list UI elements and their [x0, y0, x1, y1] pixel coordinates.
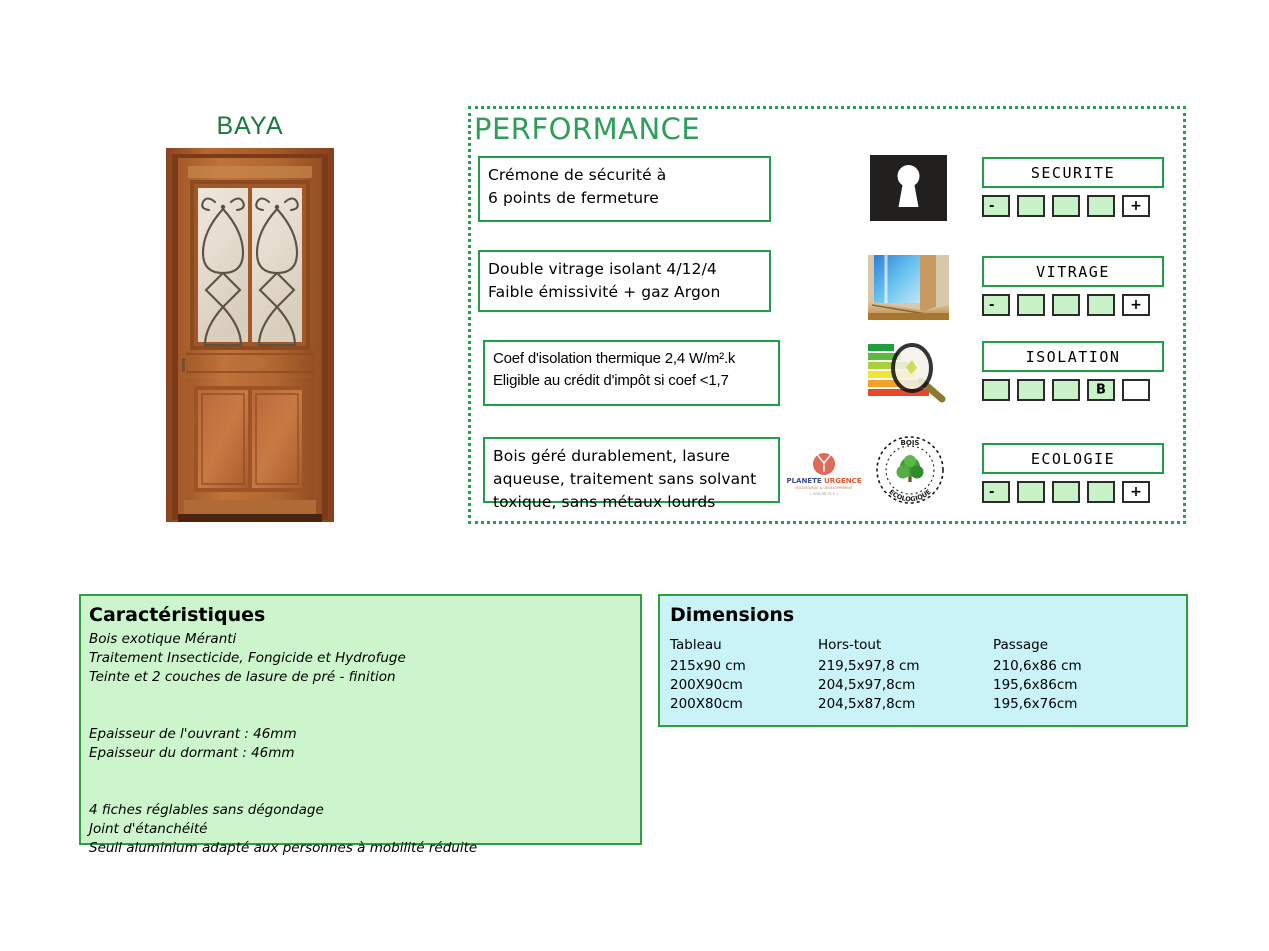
caracteristiques-heading: Caractéristiques	[89, 604, 640, 626]
rating-cell[interactable]	[1122, 379, 1150, 401]
spacer	[89, 687, 640, 725]
table-cell: 204,5x97,8cm	[818, 676, 993, 695]
product-door-image	[164, 144, 336, 528]
rating-cells-ecologie: - +	[982, 481, 1164, 503]
planete-urgence-glyph: PLANETE URGENCE VOLONTARIAT & DEVELOPPEM…	[784, 450, 864, 498]
caracteristiques-line: Seuil aluminium adapté aux personnes à m…	[89, 839, 640, 858]
rating-cell[interactable]: +	[1122, 195, 1150, 217]
rating-cell[interactable]: -	[982, 294, 1010, 316]
feature-text-ecologie: Bois géré durablement, lasure aqueuse, t…	[483, 437, 780, 503]
feature-line: Coef d'isolation thermique 2,4 W/m².k	[493, 348, 770, 370]
rating-cell[interactable]	[1087, 481, 1115, 503]
minus-icon: -	[989, 486, 994, 499]
rating-cell[interactable]	[1017, 481, 1045, 503]
svg-text:VOLONTARIAT & DEVELOPPEMENT: VOLONTARIAT & DEVELOPPEMENT	[795, 486, 854, 490]
table-cell: 215x90 cm	[670, 657, 818, 676]
rating-cells-vitrage: - +	[982, 294, 1164, 316]
rating-cell[interactable]: +	[1122, 481, 1150, 503]
rating-cell[interactable]	[1087, 195, 1115, 217]
rating-cells-securite: - +	[982, 195, 1164, 217]
feature-line: aqueuse, traitement sans solvant	[493, 468, 770, 491]
feature-line: Eligible au crédit d'impôt si coef <1,7	[493, 370, 770, 392]
plus-icon: +	[1130, 298, 1142, 312]
rating-group-vitrage: VITRAGE - +	[982, 256, 1164, 316]
rating-group-isolation: ISOLATION B	[982, 341, 1164, 401]
rating-cell[interactable]	[1052, 195, 1080, 217]
window-icon	[868, 255, 949, 320]
spacer	[89, 763, 640, 801]
rating-cell[interactable]	[1052, 481, 1080, 503]
caracteristiques-line: Traitement Insecticide, Fongicide et Hyd…	[89, 649, 640, 668]
table-cell: 200X80cm	[670, 695, 818, 714]
svg-text:PLANETE URGENCE: PLANETE URGENCE	[786, 477, 861, 485]
page-title: BAYA	[160, 112, 340, 141]
rating-group-ecologie: ECOLOGIE - +	[982, 443, 1164, 503]
feature-line: toxique, sans métaux lourds	[493, 491, 770, 514]
table-header-row: Tableau Hors-tout Passage	[670, 636, 1082, 657]
feature-line: 6 points de fermeture	[488, 187, 761, 210]
feature-line: Crémone de sécurité à	[488, 164, 761, 187]
table-cell: 204,5x87,8cm	[818, 695, 993, 714]
rating-cell[interactable]: -	[982, 195, 1010, 217]
rating-cell[interactable]	[1052, 294, 1080, 316]
minus-icon: -	[989, 299, 994, 312]
rating-cell[interactable]	[982, 379, 1010, 401]
rating-label-vitrage: VITRAGE	[982, 256, 1164, 287]
svg-text:( GROUPE ECO ): ( GROUPE ECO )	[810, 492, 838, 496]
energy-label-glyph	[866, 337, 952, 403]
dimensions-table: Tableau Hors-tout Passage 215x90 cm 219,…	[670, 636, 1082, 714]
table-cell: 210,6x86 cm	[993, 657, 1082, 676]
window-glyph	[868, 255, 949, 320]
rating-label-ecologie: ECOLOGIE	[982, 443, 1164, 474]
dimensions-panel: Dimensions Tableau Hors-tout Passage 215…	[658, 594, 1188, 727]
rating-label-securite: SECURITE	[982, 157, 1164, 188]
bois-ecologique-glyph: BOIS ECOLOGIQUE	[866, 432, 954, 508]
caracteristiques-line: Epaisseur du dormant : 46mm	[89, 744, 640, 763]
energy-label-icon	[866, 337, 952, 403]
rating-cell[interactable]	[1017, 195, 1045, 217]
feature-line: Faible émissivité + gaz Argon	[488, 281, 761, 304]
column-header: Passage	[993, 636, 1082, 657]
caracteristiques-line: 4 fiches réglables sans dégondage	[89, 801, 640, 820]
feature-text-isolation: Coef d'isolation thermique 2,4 W/m².k El…	[483, 340, 780, 406]
column-header: Hors-tout	[818, 636, 993, 657]
feature-text-securite: Crémone de sécurité à 6 points de fermet…	[478, 156, 771, 222]
rating-cell[interactable]	[1052, 379, 1080, 401]
svg-text:BOIS: BOIS	[901, 439, 920, 447]
rating-group-securite: SECURITE - +	[982, 157, 1164, 217]
column-header: Tableau	[670, 636, 818, 657]
feature-line: Bois géré durablement, lasure	[493, 445, 770, 468]
bois-ecologique-logo: BOIS ECOLOGIQUE	[866, 432, 954, 508]
dimensions-heading: Dimensions	[670, 604, 1186, 626]
keyhole-glyph	[870, 155, 947, 221]
rating-grade-letter: B	[1096, 384, 1106, 397]
caracteristiques-line: Teinte et 2 couches de lasure de pré - f…	[89, 668, 640, 687]
table-row: 200X80cm 204,5x87,8cm 195,6x76cm	[670, 695, 1082, 714]
plus-icon: +	[1130, 485, 1142, 499]
rating-cells-isolation: B	[982, 379, 1164, 401]
table-cell: 219,5x97,8 cm	[818, 657, 993, 676]
table-row: 200X90cm 204,5x97,8cm 195,6x86cm	[670, 676, 1082, 695]
rating-cell[interactable]: B	[1087, 379, 1115, 401]
minus-icon: -	[989, 200, 994, 213]
table-cell: 200X90cm	[670, 676, 818, 695]
table-cell: 195,6x86cm	[993, 676, 1082, 695]
feature-line: Double vitrage isolant 4/12/4	[488, 258, 761, 281]
plus-icon: +	[1130, 199, 1142, 213]
door-illustration	[164, 144, 336, 528]
planete-urgence-logo: PLANETE URGENCE VOLONTARIAT & DEVELOPPEM…	[784, 450, 864, 498]
rating-cell[interactable]: -	[982, 481, 1010, 503]
performance-heading: PERFORMANCE	[474, 112, 700, 146]
rating-cell[interactable]: +	[1122, 294, 1150, 316]
keyhole-icon	[870, 155, 947, 221]
rating-cell[interactable]	[1017, 379, 1045, 401]
caracteristiques-line: Bois exotique Méranti	[89, 630, 640, 649]
rating-cell[interactable]	[1017, 294, 1045, 316]
caracteristiques-line: Epaisseur de l'ouvrant : 46mm	[89, 725, 640, 744]
feature-text-vitrage: Double vitrage isolant 4/12/4 Faible émi…	[478, 250, 771, 312]
table-cell: 195,6x76cm	[993, 695, 1082, 714]
rating-label-isolation: ISOLATION	[982, 341, 1164, 372]
caracteristiques-line: Joint d'étanchéité	[89, 820, 640, 839]
table-row: 215x90 cm 219,5x97,8 cm 210,6x86 cm	[670, 657, 1082, 676]
caracteristiques-panel: Caractéristiques Bois exotique Méranti T…	[79, 594, 642, 845]
rating-cell[interactable]	[1087, 294, 1115, 316]
